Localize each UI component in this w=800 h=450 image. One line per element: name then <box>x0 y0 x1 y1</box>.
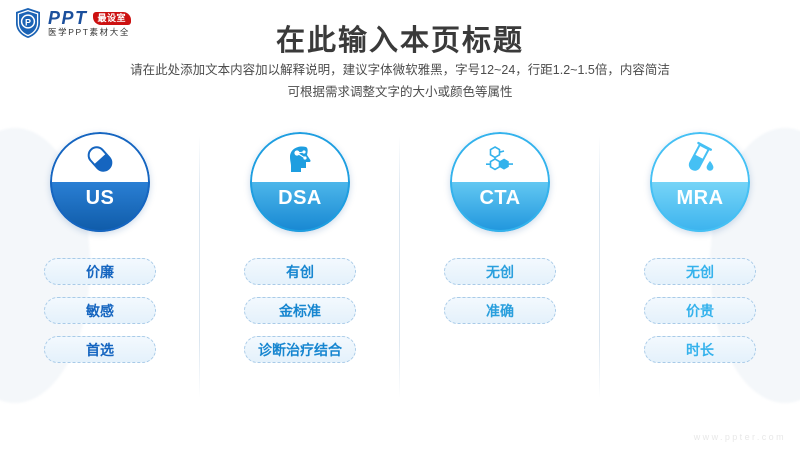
modality-column-cta: CTA 无创准确 <box>400 132 600 363</box>
molecule-icon <box>482 141 518 177</box>
feature-pill-list: 价廉敏感首选 <box>44 258 156 363</box>
modality-column-mra: MRA 无创价贵时长 <box>600 132 800 363</box>
subtitle-line-1: 请在此处添加文本内容加以解释说明，建议字体微软雅黑，字号12~24，行距1.2~… <box>0 60 800 82</box>
feature-pill[interactable]: 无创 <box>444 258 556 285</box>
badge-label-area: DSA <box>250 182 350 232</box>
modality-columns: US 价廉敏感首选 DSA 有创金标准诊断治疗结合 <box>0 132 800 363</box>
badge-label-area: CTA <box>450 182 550 232</box>
feature-pill[interactable]: 敏感 <box>44 297 156 324</box>
badge-icon-area <box>650 132 750 182</box>
shield-p-icon: P <box>14 7 42 39</box>
feature-pill-list: 无创准确 <box>444 258 556 363</box>
feature-pill[interactable]: 价廉 <box>44 258 156 285</box>
feature-pill[interactable]: 无创 <box>644 258 756 285</box>
modality-badge-dsa[interactable]: DSA <box>250 132 350 232</box>
subtitle-line-2: 可根据需求调整文字的大小或颜色等属性 <box>0 82 800 104</box>
modality-badge-mra[interactable]: MRA <box>650 132 750 232</box>
badge-label-area: US <box>50 182 150 232</box>
badge-label-area: MRA <box>650 182 750 232</box>
feature-pill[interactable]: 有创 <box>244 258 356 285</box>
feature-pill[interactable]: 价贵 <box>644 297 756 324</box>
feature-pill-list: 有创金标准诊断治疗结合 <box>244 258 356 363</box>
modality-code: US <box>86 188 115 208</box>
modality-code: MRA <box>676 188 723 208</box>
site-watermark: www.ppter.com <box>694 432 786 442</box>
modality-code: CTA <box>479 188 520 208</box>
page-subtitle: 请在此处添加文本内容加以解释说明，建议字体微软雅黑，字号12~24，行距1.2~… <box>0 60 800 103</box>
test-tube-drop-icon <box>682 141 718 177</box>
feature-pill[interactable]: 首选 <box>44 336 156 363</box>
feature-pill[interactable]: 诊断治疗结合 <box>244 336 356 363</box>
badge-icon-area <box>450 132 550 182</box>
svg-text:P: P <box>25 17 31 27</box>
badge-icon-area <box>250 132 350 182</box>
modality-badge-cta[interactable]: CTA <box>450 132 550 232</box>
brand-logo: P PPT 最设室 医学PPT素材大全 <box>14 7 131 39</box>
head-network-icon <box>282 141 318 177</box>
brand-tagline: 医学PPT素材大全 <box>48 28 131 37</box>
modality-code: DSA <box>278 188 322 208</box>
badge-icon-area <box>50 132 150 182</box>
modality-column-us: US 价廉敏感首选 <box>0 132 200 363</box>
modality-column-dsa: DSA 有创金标准诊断治疗结合 <box>200 132 400 363</box>
brand-name: PPT <box>48 9 88 27</box>
brand-badge: 最设室 <box>93 12 132 25</box>
feature-pill[interactable]: 金标准 <box>244 297 356 324</box>
feature-pill[interactable]: 时长 <box>644 336 756 363</box>
feature-pill[interactable]: 准确 <box>444 297 556 324</box>
capsule-pill-icon <box>82 141 118 177</box>
modality-badge-us[interactable]: US <box>50 132 150 232</box>
feature-pill-list: 无创价贵时长 <box>644 258 756 363</box>
